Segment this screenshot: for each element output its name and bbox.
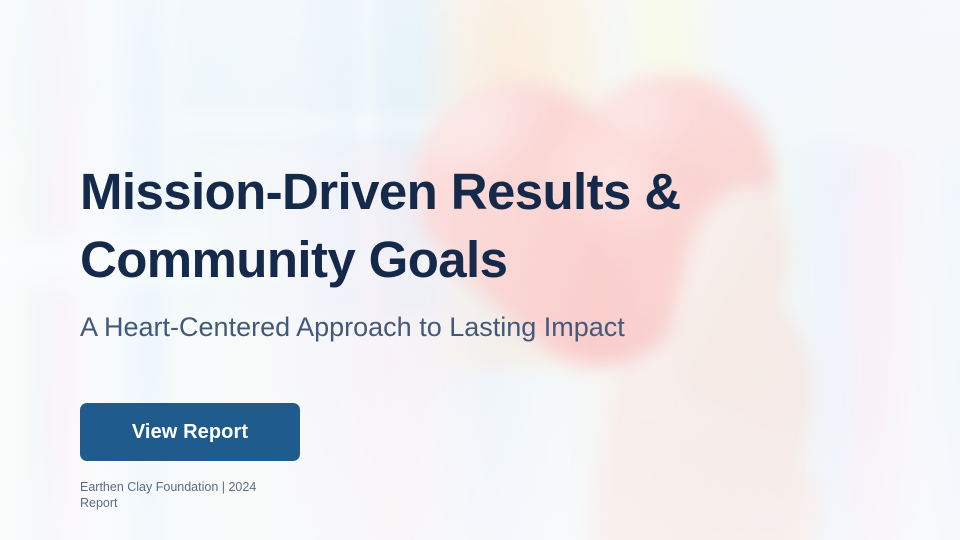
page-subtitle: A Heart-Centered Approach to Lasting Imp… — [80, 310, 780, 344]
page-title: Mission-Driven Results & Community Goals — [80, 158, 800, 294]
hero-slide: Mission-Driven Results & Community Goals… — [0, 0, 960, 540]
view-report-button[interactable]: View Report — [80, 403, 300, 461]
footer-attribution: Earthen Clay Foundation | 2024 Report — [80, 479, 258, 511]
hero-content: Mission-Driven Results & Community Goals… — [80, 0, 880, 540]
